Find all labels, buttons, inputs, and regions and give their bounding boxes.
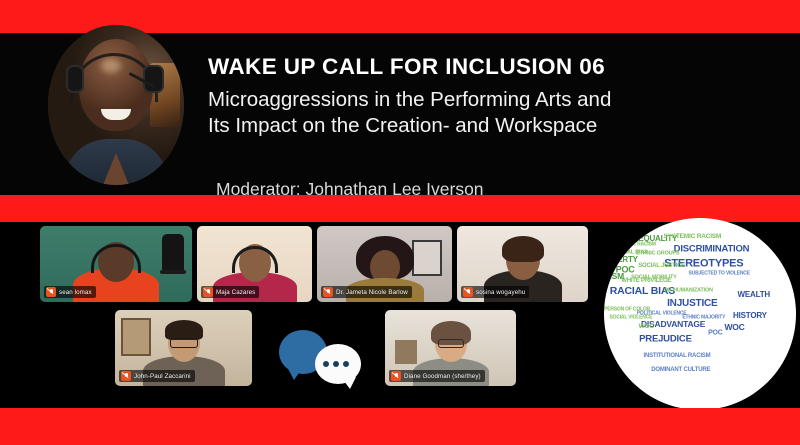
participant-name-badge: Maja Cazares bbox=[201, 286, 259, 298]
footer-band bbox=[0, 408, 800, 445]
word-cloud-term: DE-HUMANIZATION bbox=[664, 288, 713, 294]
word-cloud-term: WOC bbox=[639, 324, 654, 331]
studio-microphone-icon bbox=[162, 234, 184, 274]
participant-name-badge: John-Paul Zaccarini bbox=[119, 370, 195, 382]
word-cloud-term: SOCIAL MOBILITY bbox=[631, 275, 676, 281]
participant-name-badge: Dr. Jameta Nicole Barlow bbox=[321, 286, 412, 298]
word-cloud-term: SYSTEMIC RACISM bbox=[663, 234, 721, 241]
video-tile[interactable]: John-Paul Zaccarini bbox=[115, 310, 252, 386]
word-cloud-term: PREJUDICE bbox=[639, 334, 692, 344]
video-tile[interactable]: Dr. Jameta Nicole Barlow bbox=[317, 226, 452, 302]
word-cloud-globe: STEREOTYPESDISCRIMINATIONRACIAL BIASINJU… bbox=[604, 218, 796, 410]
video-tile[interactable]: sosina wogayehu bbox=[457, 226, 588, 302]
presentation-slide: WAKE UP CALL FOR INCLUSION 06 Microaggre… bbox=[0, 0, 800, 445]
mic-muted-icon bbox=[46, 287, 56, 297]
participant-name: Diane Goodman (she/they) bbox=[404, 373, 481, 380]
word-cloud-term: POVERTY bbox=[604, 256, 638, 264]
portrait-smile bbox=[101, 109, 131, 120]
page-subtitle-line1: Microaggressions in the Performing Arts … bbox=[208, 87, 768, 113]
participant-name-badge: sosina wogayehu bbox=[461, 286, 529, 298]
video-tile[interactable]: Diane Goodman (she/they) bbox=[385, 310, 516, 386]
mic-muted-icon bbox=[121, 371, 131, 381]
page-subtitle-line2: Its Impact on the Creation- and Workspac… bbox=[208, 113, 768, 139]
participant-hair bbox=[165, 320, 203, 340]
word-cloud-term: DISCRIMINATION bbox=[674, 244, 750, 254]
headset-earcup-right-icon bbox=[143, 65, 164, 93]
video-tile[interactable]: Maja Cazares bbox=[197, 226, 312, 302]
word-cloud-term: WEALTH bbox=[738, 291, 770, 299]
word-cloud-term: HISTORY bbox=[733, 312, 767, 320]
mic-arm bbox=[160, 270, 186, 274]
eyeglasses-icon bbox=[170, 338, 198, 348]
participant-name: Maja Cazares bbox=[216, 289, 255, 296]
chat-bubbles-icon[interactable] bbox=[279, 324, 361, 386]
moderator-portrait bbox=[48, 25, 184, 185]
participant-name: sosina wogayehu bbox=[476, 289, 525, 296]
participant-name: Dr. Jameta Nicole Barlow bbox=[336, 289, 408, 296]
mic-muted-icon bbox=[323, 287, 333, 297]
word-cloud-term: INJUSTICE bbox=[667, 299, 717, 309]
video-tile[interactable]: sean lomax bbox=[40, 226, 192, 302]
participant-name: sean lomax bbox=[59, 289, 92, 296]
eyeglasses-icon bbox=[438, 339, 464, 348]
title-block: WAKE UP CALL FOR INCLUSION 06 Microaggre… bbox=[208, 55, 768, 138]
header-band: WAKE UP CALL FOR INCLUSION 06 Microaggre… bbox=[0, 33, 800, 195]
mic-muted-icon bbox=[203, 287, 213, 297]
word-cloud-term: SOCIAL JUSTICE bbox=[638, 263, 685, 269]
wall-picture-frame bbox=[121, 318, 151, 356]
red-divider bbox=[0, 195, 800, 222]
word-cloud-term: INSTITUTIONAL RACISM bbox=[644, 353, 711, 359]
page-title: WAKE UP CALL FOR INCLUSION 06 bbox=[208, 55, 768, 80]
furniture bbox=[395, 340, 417, 364]
word-cloud-term: ETHNIC MAJORITY bbox=[682, 315, 725, 320]
word-cloud-term: HISTORIC RACISM bbox=[614, 242, 656, 247]
word-cloud-term: RACIAL BIAS bbox=[614, 250, 647, 256]
participant-name-badge: Diane Goodman (she/they) bbox=[389, 370, 485, 382]
mic-muted-icon bbox=[463, 287, 473, 297]
participant-name-badge: sean lomax bbox=[44, 286, 96, 298]
chat-bubble-white-tail bbox=[341, 377, 356, 389]
chat-bubble-blue-tail bbox=[287, 367, 303, 380]
headset-earcup-left-icon bbox=[66, 65, 84, 93]
word-cloud-term: SOCIAL VIOLENCE bbox=[610, 315, 653, 320]
word-cloud-term: SUBJECTED TO VIOLENCE bbox=[689, 271, 750, 276]
participant-name: John-Paul Zaccarini bbox=[134, 373, 191, 380]
wall-picture-frame bbox=[412, 240, 442, 276]
word-cloud-term: POC bbox=[708, 330, 723, 337]
mic-muted-icon bbox=[391, 371, 401, 381]
word-cloud-term: DOMINANT CULTURE bbox=[651, 367, 710, 373]
participant-hair bbox=[502, 236, 544, 262]
word-cloud-term: WOC bbox=[724, 323, 744, 332]
typing-dots-icon bbox=[323, 361, 349, 367]
